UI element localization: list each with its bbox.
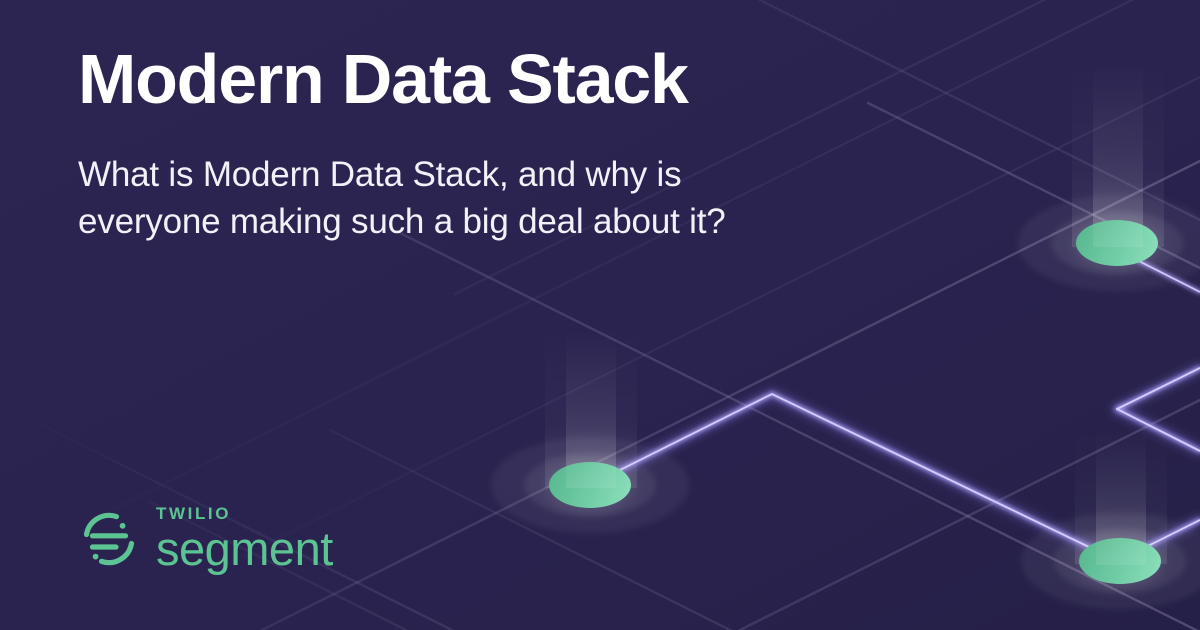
- twilio-segment-logo[interactable]: TWILIO segment: [78, 505, 333, 572]
- logo-segment-text: segment: [156, 525, 333, 572]
- segment-logo-icon: [78, 508, 140, 570]
- logo-twilio-text: TWILIO: [156, 505, 333, 522]
- og-card: Modern Data Stack What is Modern Data St…: [0, 0, 1200, 630]
- logo-wordmark: TWILIO segment: [156, 505, 333, 572]
